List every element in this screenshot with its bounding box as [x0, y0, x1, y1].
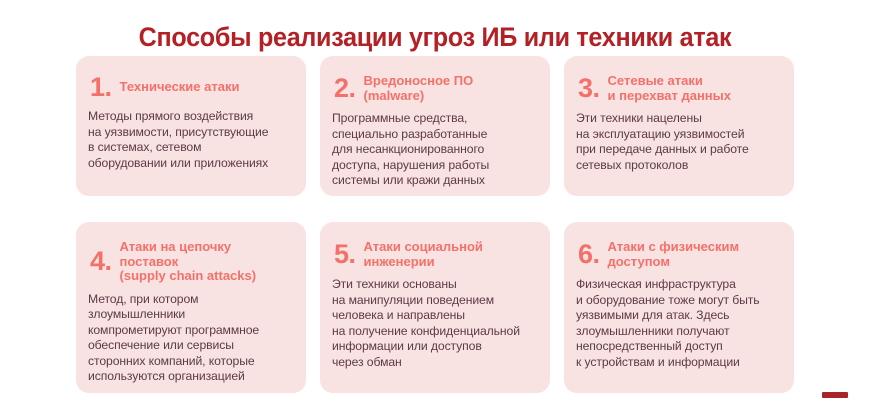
card-number: 6. [576, 241, 600, 268]
card-title: Атаки на цепочку поставок (supply chain … [120, 240, 290, 284]
card-number: 3. [576, 75, 600, 102]
attack-technique-card: 5. Атаки социальной инженерии Эти техник… [320, 222, 550, 393]
card-body-text: Эти техники основаны на манипуляции пове… [332, 277, 534, 371]
card-number: 2. [332, 75, 356, 102]
card-body-text: Программные средства, специально разрабо… [332, 111, 534, 189]
card-title: Сетевые атаки и перехват данных [608, 74, 778, 103]
card-number: 4. [88, 248, 112, 275]
card-body-text: Физическая инфраструктура и оборудование… [576, 277, 778, 371]
card-body-text: Методы прямого воздействия на уязвимости… [88, 109, 290, 171]
attack-technique-card: 4. Атаки на цепочку поставок (supply cha… [76, 222, 306, 393]
card-header: 3. Сетевые атаки и перехват данных [576, 74, 778, 103]
card-header: 2. Вредоносное ПО (malware) [332, 74, 534, 103]
card-body-text: Эти техники нацелены на эксплуатацию уяз… [576, 111, 778, 173]
card-header: 6. Атаки с физическим доступом [576, 240, 778, 269]
attack-technique-card: 6. Атаки с физическим доступом Физическа… [564, 222, 794, 393]
card-body-text: Метод, при котором злоумышленники компро… [88, 292, 290, 386]
card-title: Вредоносное ПО (malware) [364, 74, 534, 103]
card-header: 1. Технические атаки [88, 74, 290, 101]
card-number: 5. [332, 241, 356, 268]
card-title: Атаки социальной инженерии [364, 240, 534, 269]
attack-technique-card: 2. Вредоносное ПО (malware) Программные … [320, 56, 550, 196]
attack-technique-card-grid: 1. Технические атаки Методы прямого возд… [76, 56, 794, 393]
corner-logo-mark [822, 392, 848, 398]
card-title: Атаки с физическим доступом [608, 240, 778, 269]
attack-technique-card: 3. Сетевые атаки и перехват данных Эти т… [564, 56, 794, 196]
card-header: 4. Атаки на цепочку поставок (supply cha… [88, 240, 290, 284]
page-title: Способы реализации угроз ИБ или техники … [30, 20, 839, 54]
attack-technique-card: 1. Технические атаки Методы прямого возд… [76, 56, 306, 196]
card-header: 5. Атаки социальной инженерии [332, 240, 534, 269]
card-number: 1. [88, 74, 112, 101]
card-title: Технические атаки [120, 80, 290, 95]
